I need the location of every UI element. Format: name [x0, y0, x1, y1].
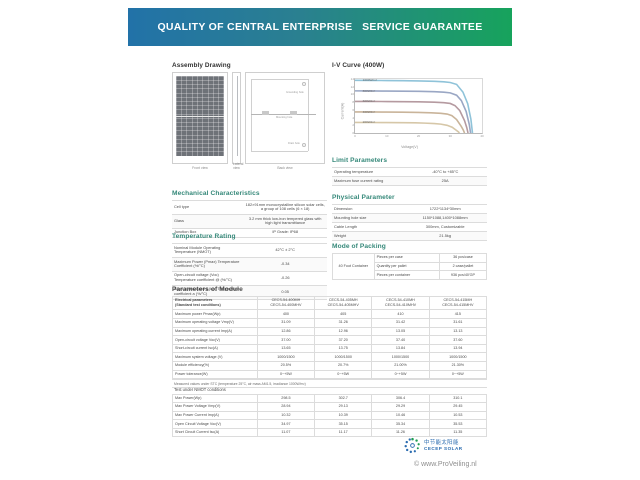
row-value: 21.30%: [429, 361, 486, 370]
column-header-model-4: CECS-54-415MH CECS-54-415MHV: [429, 297, 486, 310]
row-label: Pieces per container: [374, 271, 439, 280]
iv-curve-annotation: 200W/m²: [363, 120, 376, 124]
row-value: 34.97: [257, 420, 314, 429]
column-header-model-2: CECS-54-405MH CECS-54-405MHV: [315, 297, 372, 310]
table-row: Maximum system voltage (V)1000/15001000/…: [173, 353, 487, 362]
assembly-drawing-figures: Front view Lateral view Grounding hole M…: [172, 72, 327, 164]
row-label: Max Power Current Imp(A): [173, 411, 258, 420]
table-row: Short Circuit Current Isc(A)11.0711.1711…: [173, 428, 487, 437]
junction-box-rail: [251, 114, 316, 115]
row-value: 10.32: [257, 411, 314, 420]
panel-lateral-view: Lateral view: [232, 72, 241, 164]
row-label: Short Circuit Current Isc(A): [173, 428, 258, 437]
table-row: Maximum operating current Imp(A)12.8612.…: [173, 327, 487, 336]
row-label: Open-circuit voltage Voc(V): [173, 336, 258, 345]
chart-plot-area: 024681012140102030401000W/m²800W/m²600W/…: [354, 78, 483, 134]
row-label: Pieces per case: [374, 254, 439, 263]
row-value: 31.09: [257, 319, 314, 328]
row-label: Short-circuit current Isc(A): [173, 344, 258, 353]
table-row: Cable Length300mm, Customizable: [332, 223, 487, 232]
limit-parameters-table: Operating temperature-40°C to +85°CMaxim…: [332, 167, 487, 186]
physical-parameter-table: Dimension1722*1134*30mmMounting hole siz…: [332, 204, 487, 241]
row-label: Maximum power Pmax(Wp): [173, 310, 258, 319]
table-row: Power tolerance(W)0~+5W0~+5W0~+5W0~+5W: [173, 370, 487, 379]
row-value: 1000/1500: [429, 353, 486, 362]
table-row: Dimension1722*1134*30mm: [332, 205, 487, 214]
row-value: 21.00%: [372, 361, 429, 370]
x-axis-tick: 10: [385, 134, 388, 138]
table-row: Open Circuit Voltage Voc(V)34.9735.1535.…: [173, 420, 487, 429]
iv-curve-lines: [355, 79, 482, 133]
row-label: Weight: [332, 232, 403, 241]
row-value: 10.53: [429, 411, 486, 420]
row-value: 10.39: [315, 411, 372, 420]
row-value: 13.84: [372, 344, 429, 353]
row-value: 13.75: [315, 344, 372, 353]
row-value: 37.40: [372, 336, 429, 345]
row-value: 13.94: [429, 344, 486, 353]
row-label: Open Circuit Voltage Voc(V): [173, 420, 258, 429]
company-logo: 中节能太阳能 CECEP SOLAR: [404, 437, 463, 454]
table-row: Open-circuit voltage (Voc) Temperature c…: [172, 271, 327, 285]
iv-curve-annotation: 800W/m²: [363, 89, 376, 93]
row-value: 306.4: [372, 394, 429, 403]
parameters-of-module-title: Parameters of Module: [172, 286, 487, 293]
drain-hole-icon: [302, 143, 306, 147]
iv-curve-title: I-V Curve (400W): [332, 62, 487, 69]
logo-text: 中节能太阳能 CECEP SOLAR: [424, 440, 463, 451]
lateral-view-caption: Lateral view: [233, 162, 240, 170]
y-axis-tick: 2: [352, 123, 354, 127]
table-row: Short-circuit current Isc(A)13.6513.7513…: [173, 344, 487, 353]
row-value: 42°C ± 2°C: [243, 244, 327, 258]
row-value: 11.35: [429, 428, 486, 437]
table-row: Open-circuit voltage Voc(V)37.0037.2037.…: [173, 336, 487, 345]
grounding-hole-label: Grounding hole: [286, 91, 304, 94]
row-label: Maximum system voltage (V): [173, 353, 258, 362]
row-label: Cell type: [172, 201, 243, 215]
watermark: © www.ProVeiling.nl: [414, 461, 477, 468]
table-row: Operating temperature-40°C to +85°C: [332, 168, 487, 177]
panel-front-view: Front view: [172, 72, 228, 164]
row-value: 12.86: [257, 327, 314, 336]
iv-curve-annotation: 400W/m²: [363, 110, 376, 114]
row-value: 11.26: [372, 428, 429, 437]
iv-curve-annotation: 600W/m²: [363, 99, 376, 103]
row-label: Maximum operating current Imp(A): [173, 327, 258, 336]
y-axis-tick: 10: [351, 92, 354, 96]
x-axis-tick: 40: [480, 134, 483, 138]
physical-parameter-title: Physical Parameter: [332, 194, 487, 201]
limit-parameters-title: Limit Parameters: [332, 157, 487, 164]
row-value: 936 pcs/40'GP: [439, 271, 486, 280]
row-value: 29.13: [315, 403, 372, 412]
nmot-title: Test under NMOT conditions: [172, 385, 487, 394]
row-label: Max Power(Wp): [173, 394, 258, 403]
front-view-caption: Front view: [173, 166, 227, 170]
row-value: 405: [315, 310, 372, 319]
row-value: 310.1: [429, 394, 486, 403]
row-value: 20.7%: [315, 361, 372, 370]
row-value: 0~+5W: [315, 370, 372, 379]
table-row: Glass3.2 mm thick low-iron tempered glas…: [172, 214, 327, 228]
row-value: 10.46: [372, 411, 429, 420]
row-value: 11.07: [257, 428, 314, 437]
row-value: 3.2 mm thick low-iron tempered glass wit…: [243, 214, 327, 228]
y-axis-tick: 4: [352, 116, 354, 120]
row-value: 1000/1500: [315, 353, 372, 362]
table-row: Max Power Current Imp(A)10.3210.3910.461…: [173, 411, 487, 420]
row-value: 37.60: [429, 336, 486, 345]
row-value: 31.61: [429, 319, 486, 328]
row-value: 21.5kg: [403, 232, 487, 241]
row-value: 28.94: [257, 403, 314, 412]
grounding-hole-icon: [302, 82, 306, 86]
mechanical-characteristics-section: Mechanical Characteristics Cell type182×…: [172, 190, 327, 238]
limit-parameters-section: Limit Parameters Operating temperature-4…: [332, 157, 487, 186]
assembly-drawing-title: Assembly Drawing: [172, 62, 327, 69]
row-value: 11.17: [315, 428, 372, 437]
table-row: Maximum power Pmax(Wp)400405410415: [173, 310, 487, 319]
temperature-rating-title: Temperature Rating: [172, 233, 327, 240]
table-row: Max Power(Wp)298.5302.7306.4310.1: [173, 394, 487, 403]
row-value: 36 pcs/case: [439, 254, 486, 263]
row-value: 300mm, Customizable: [403, 223, 487, 232]
page-title: QUALITY OF CENTRAL ENTERPRISE SERVICE GU…: [157, 21, 482, 33]
row-value: 298.5: [257, 394, 314, 403]
row-label: Max Power Voltage Vmp(V): [173, 403, 258, 412]
table-row: Max Power Voltage Vmp(V)28.9429.1329.292…: [173, 403, 487, 412]
row-value: 31.26: [315, 319, 372, 328]
row-value: 1000/1500: [372, 353, 429, 362]
y-axis-tick: 6: [352, 108, 354, 112]
row-value: 37.00: [257, 336, 314, 345]
row-value: 13.65: [257, 344, 314, 353]
table-row: Mounting hole size1150*1088,1400*1088mm: [332, 214, 487, 223]
page-header-banner: QUALITY OF CENTRAL ENTERPRISE SERVICE GU…: [128, 8, 512, 46]
row-value: 29.29: [372, 403, 429, 412]
table-row: Weight21.5kg: [332, 232, 487, 241]
row-label: Module efficiency(%): [173, 361, 258, 370]
x-axis-tick: 30: [449, 134, 452, 138]
iv-curve-section: I-V Curve (400W) Current(A) Voltage(V) 0…: [332, 62, 487, 150]
row-value: 410: [372, 310, 429, 319]
column-header-model-3: CECS-54-410MH CECS-54-410MHV: [372, 297, 429, 310]
drain-hole-label: Drain hole: [288, 142, 300, 145]
row-value: 182×91mm monocrystalline silicon solar c…: [243, 201, 327, 215]
row-value: -0.26: [243, 271, 327, 285]
table-row: Nominal Module Operating Temperature (NM…: [172, 244, 327, 258]
row-value: 13.05: [372, 327, 429, 336]
x-axis-tick: 0: [354, 134, 356, 138]
busbar-line: [176, 116, 224, 117]
junction-box-right: [290, 111, 297, 115]
iv-curve-chart: Current(A) Voltage(V) 024681012140102030…: [332, 72, 487, 150]
row-value: 35.34: [372, 420, 429, 429]
nmot-table: Max Power(Wp)298.5302.7306.4310.1Max Pow…: [172, 394, 487, 438]
physical-parameter-section: Physical Parameter Dimension1722*1134*30…: [332, 194, 487, 241]
mode-of-packing-title: Mode of Packing: [332, 243, 487, 250]
iv-curve-series: [355, 101, 468, 133]
datasheet-page: QUALITY OF CENTRAL ENTERPRISE SERVICE GU…: [0, 0, 640, 480]
row-value: -40°C to +85°C: [403, 168, 487, 177]
table-header-row: Electrical parameters (Standard test con…: [173, 297, 487, 310]
row-value: 35.15: [315, 420, 372, 429]
row-value: 1150*1088,1400*1088mm: [403, 214, 487, 223]
row-label: Maximum fuse current rating: [332, 177, 403, 186]
row-value: 400: [257, 310, 314, 319]
row-value: 37.20: [315, 336, 372, 345]
row-value: 29.45: [429, 403, 486, 412]
row-value: 1000/1500: [257, 353, 314, 362]
column-header-model-1: CECS-54-400MH CECS-54-400MHV: [257, 297, 314, 310]
row-label: Power tolerance(W): [173, 370, 258, 379]
row-value: 302.7: [315, 394, 372, 403]
assembly-drawing-section: Assembly Drawing Front view Lateral view: [172, 62, 327, 164]
y-axis-tick: 8: [352, 100, 354, 104]
row-value: 35.53: [429, 420, 486, 429]
row-label: Maximum operating voltage Vmp(V): [173, 319, 258, 328]
mode-of-packing-section: Mode of Packing 40 Foot ContainerPieces …: [332, 243, 487, 280]
y-axis-label: Current(A): [340, 103, 344, 120]
row-label: Glass: [172, 214, 243, 228]
y-axis-tick: 12: [351, 85, 354, 89]
row-value: 415: [429, 310, 486, 319]
logo-text-en: CECEP SOLAR: [424, 446, 463, 451]
row-value: 1722*1134*30mm: [403, 205, 487, 214]
parameters-of-module-section: Parameters of Module Electrical paramete…: [172, 286, 487, 388]
row-value: 25A: [403, 177, 487, 186]
row-label: Nominal Module Operating Temperature (NM…: [172, 244, 243, 258]
x-axis-label: Voltage(V): [332, 145, 487, 149]
iv-curve-annotation: 1000W/m²: [363, 78, 377, 82]
table-row: Module efficiency(%)20.5%20.7%21.00%21.3…: [173, 361, 487, 370]
packing-group-label: 40 Foot Container: [333, 254, 375, 280]
row-value: 20.5%: [257, 361, 314, 370]
mechanical-characteristics-title: Mechanical Characteristics: [172, 190, 327, 197]
row-value: 12.96: [315, 327, 372, 336]
mounting-hole-label: Mounting hole: [276, 116, 292, 119]
table-row: 40 Foot ContainerPieces per case36 pcs/c…: [333, 254, 487, 263]
mode-of-packing-table: 40 Foot ContainerPieces per case36 pcs/c…: [332, 253, 487, 280]
row-label: Quantity per pallet: [374, 262, 439, 271]
row-label: Mounting hole size: [332, 214, 403, 223]
y-axis-tick: 14: [351, 77, 354, 81]
row-label: Dimension: [332, 205, 403, 214]
table-row: Maximum operating voltage Vmp(V)31.0931.…: [173, 319, 487, 328]
back-view-caption: Back view: [246, 166, 324, 170]
cecep-logo-icon: [404, 437, 421, 454]
column-header-label: Electrical parameters (Standard test con…: [173, 297, 258, 310]
row-label: Open-circuit voltage (Voc) Temperature c…: [172, 271, 243, 285]
table-row: Cell type182×91mm monocrystalline silico…: [172, 201, 327, 215]
frame-profile-line: [237, 76, 238, 156]
table-row: Maximum fuse current rating25A: [332, 177, 487, 186]
nmot-section: Test under NMOT conditions Max Power(Wp)…: [172, 385, 487, 437]
row-value: 31.42: [372, 319, 429, 328]
junction-box-left: [262, 111, 269, 115]
parameters-of-module-table: Electrical parameters (Standard test con…: [172, 296, 487, 379]
row-value: 2 case/pallet: [439, 262, 486, 271]
x-axis-tick: 20: [417, 134, 420, 138]
table-row: Maximum Power (Pmax) Temperature Coeffic…: [172, 257, 327, 271]
row-value: 0~+5W: [429, 370, 486, 379]
row-label: Maximum Power (Pmax) Temperature Coeffic…: [172, 257, 243, 271]
panel-back-view: Grounding hole Mounting hole Drain hole …: [245, 72, 325, 164]
row-value: 0~+5W: [257, 370, 314, 379]
row-value: 0~+5W: [372, 370, 429, 379]
row-label: Operating temperature: [332, 168, 403, 177]
row-value: 13.13: [429, 327, 486, 336]
row-label: Cable Length: [332, 223, 403, 232]
row-value: -0.34: [243, 257, 327, 271]
